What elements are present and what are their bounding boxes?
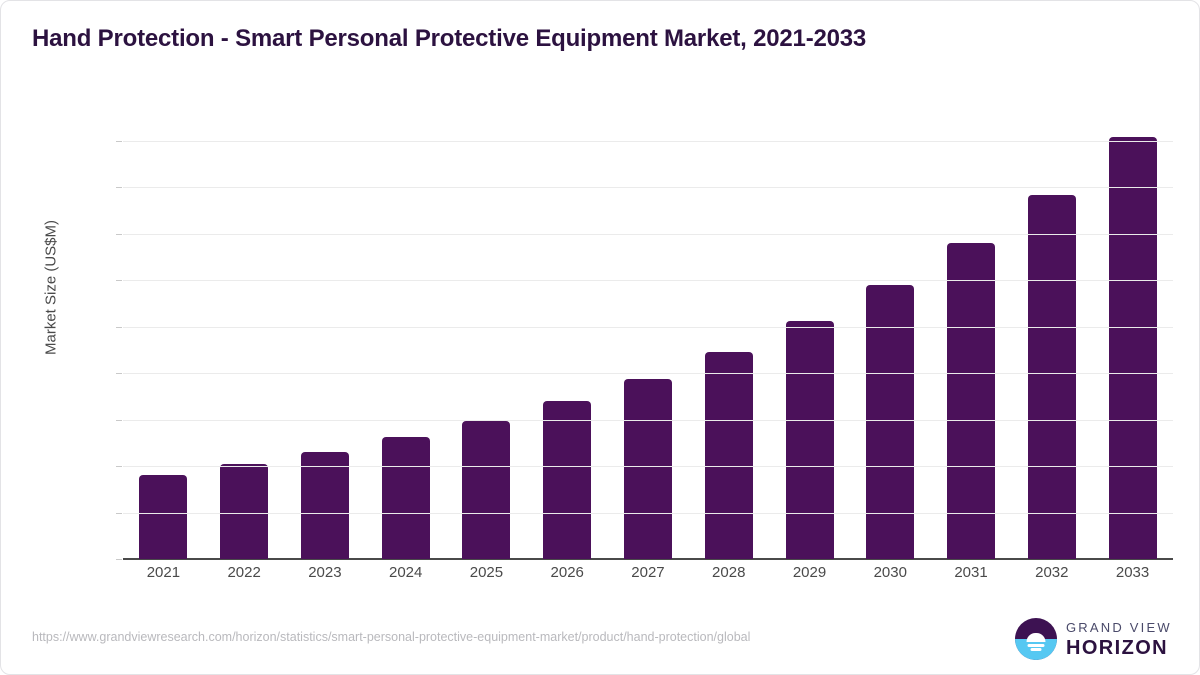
gridline	[123, 141, 1173, 142]
bar-slot	[608, 113, 689, 559]
x-tick-label-2022: 2022	[204, 564, 285, 581]
bar-2032[interactable]	[1028, 195, 1076, 559]
bar-slot	[123, 113, 204, 559]
y-tick-mark	[116, 234, 122, 235]
x-axis-labels: 2021202220232024202520262027202820292030…	[123, 564, 1173, 581]
x-tick-label-2025: 2025	[446, 564, 527, 581]
gridline	[123, 373, 1173, 374]
y-tick-mark	[116, 141, 122, 142]
y-axis-title: Market Size (US$M)	[43, 178, 60, 398]
bar-2029[interactable]	[786, 321, 834, 559]
bar-slot	[1092, 113, 1173, 559]
bar-2024[interactable]	[382, 437, 430, 559]
horizon-sun-circle-icon	[1015, 618, 1057, 660]
logo-dome-shape	[1027, 633, 1046, 643]
x-tick-label-2027: 2027	[608, 564, 689, 581]
y-tick-mark	[116, 559, 122, 560]
gridline	[123, 513, 1173, 514]
x-tick-label-2023: 2023	[285, 564, 366, 581]
gridline	[123, 420, 1173, 421]
y-tick-mark	[116, 420, 122, 421]
y-tick-mark	[116, 327, 122, 328]
bar-slot	[769, 113, 850, 559]
bar-slot	[365, 113, 446, 559]
grand-view-horizon-logo[interactable]: GRAND VIEW HORIZON	[1015, 618, 1172, 660]
y-tick-mark	[116, 513, 122, 514]
bar-series	[123, 113, 1173, 559]
bar-2028[interactable]	[705, 352, 753, 559]
x-tick-label-2032: 2032	[1011, 564, 1092, 581]
gridline	[123, 234, 1173, 235]
bar-2027[interactable]	[624, 379, 672, 559]
y-tick-mark	[116, 373, 122, 374]
x-tick-label-2024: 2024	[365, 564, 446, 581]
bar-slot	[446, 113, 527, 559]
bar-slot	[688, 113, 769, 559]
logo-text-grand-view: GRAND VIEW	[1066, 621, 1172, 634]
x-tick-label-2021: 2021	[123, 564, 204, 581]
source-url[interactable]: https://www.grandviewresearch.com/horizo…	[32, 629, 947, 645]
bar-2023[interactable]	[301, 452, 349, 559]
bar-slot	[1011, 113, 1092, 559]
x-tick-label-2031: 2031	[931, 564, 1012, 581]
chart-page: Hand Protection - Smart Personal Protect…	[0, 0, 1200, 675]
bar-2021[interactable]	[139, 475, 187, 559]
bar-slot	[285, 113, 366, 559]
gridline	[123, 327, 1173, 328]
gridline	[123, 280, 1173, 281]
bar-slot	[527, 113, 608, 559]
bar-slot	[931, 113, 1012, 559]
y-tick-mark	[116, 280, 122, 281]
x-tick-label-2033: 2033	[1092, 564, 1173, 581]
logo-text-horizon: HORIZON	[1066, 638, 1172, 658]
logo-stripe-upper	[1028, 644, 1045, 647]
bar-2025[interactable]	[462, 421, 510, 559]
bar-slot	[850, 113, 931, 559]
x-tick-label-2029: 2029	[769, 564, 850, 581]
bar-2033[interactable]	[1109, 137, 1157, 559]
gridline	[123, 187, 1173, 188]
x-tick-label-2028: 2028	[688, 564, 769, 581]
logo-wordmark: GRAND VIEW HORIZON	[1066, 621, 1172, 658]
plot-area: 0250500750100012501500175020002250	[123, 113, 1173, 559]
bar-2026[interactable]	[543, 401, 591, 559]
chart-container: Market Size (US$M) 025050075010001250150…	[1, 1, 1200, 675]
logo-stripe-lower	[1031, 648, 1042, 651]
y-tick-mark	[116, 466, 122, 467]
bar-slot	[204, 113, 285, 559]
gridline	[123, 466, 1173, 467]
x-tick-label-2026: 2026	[527, 564, 608, 581]
y-tick-mark	[116, 187, 122, 188]
x-tick-label-2030: 2030	[850, 564, 931, 581]
